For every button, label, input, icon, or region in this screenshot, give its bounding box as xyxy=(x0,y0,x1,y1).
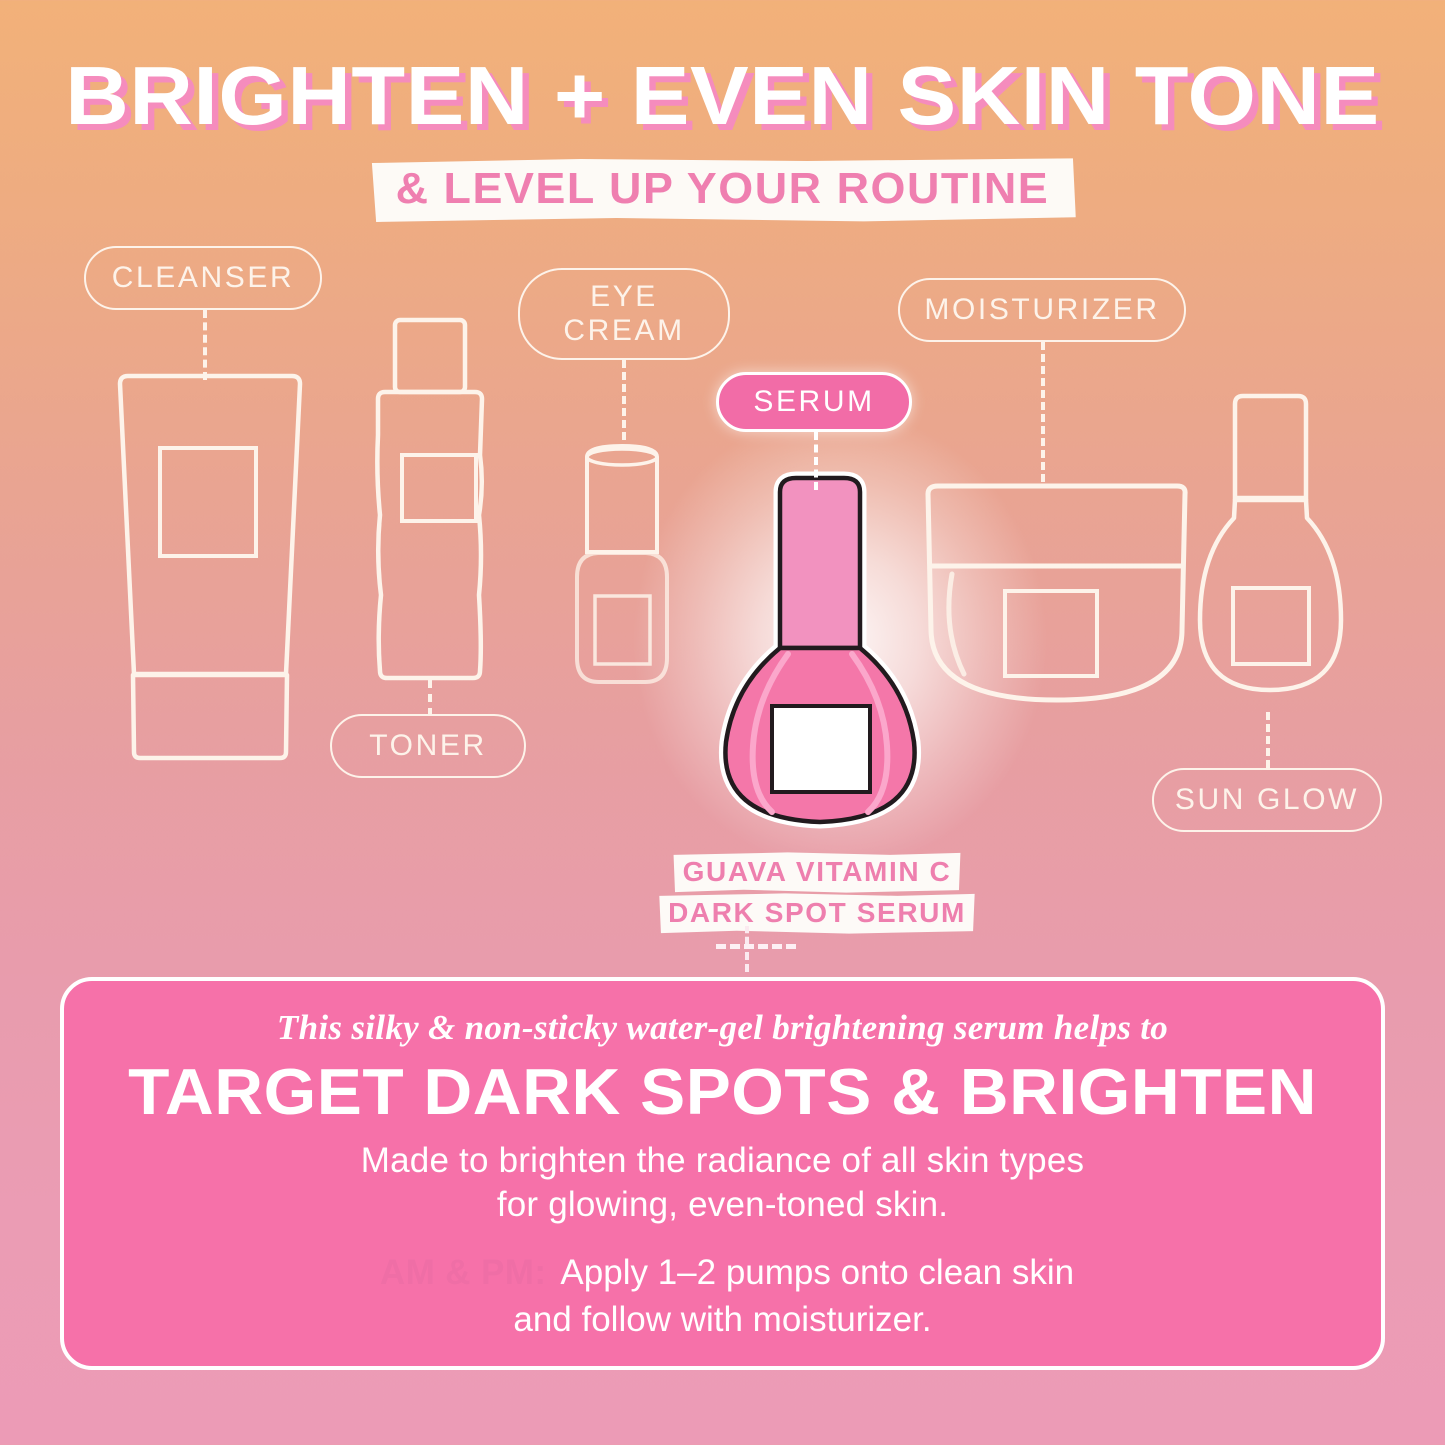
connector-serum xyxy=(814,432,818,490)
label-pill-sun-glow[interactable]: SUN GLOW xyxy=(1152,768,1382,832)
panel-body-line2: for glowing, even-toned skin. xyxy=(497,1185,948,1224)
connector-product-name-bottom xyxy=(745,952,749,972)
label-text-eye-cream-line1: EYE xyxy=(590,280,658,313)
label-pill-cleanser[interactable]: CLEANSER xyxy=(84,246,322,310)
connector-moisturizer xyxy=(1041,342,1045,482)
connector-sun-glow xyxy=(1266,712,1270,768)
usage-badge: AM & PM: xyxy=(371,1249,556,1298)
product-illustration-toner xyxy=(360,315,500,690)
label-text-cleanser: CLEANSER xyxy=(112,261,295,295)
label-text-eye-cream: EYE CREAM xyxy=(563,280,684,347)
label-text-serum: SERUM xyxy=(753,385,874,419)
connector-cleanser xyxy=(203,310,207,380)
page-title: BRIGHTEN + EVEN SKIN TONE xyxy=(0,48,1445,144)
label-pill-toner[interactable]: TONER xyxy=(330,714,526,778)
label-pill-eye-cream[interactable]: EYE CREAM xyxy=(518,268,730,360)
label-text-eye-cream-line2: CREAM xyxy=(563,314,684,347)
label-text-toner: TONER xyxy=(369,729,486,763)
page-subtitle: & LEVEL UP YOUR ROUTINE xyxy=(369,157,1076,224)
usage-line2: and follow with moisturizer. xyxy=(513,1300,931,1339)
product-illustration-serum xyxy=(710,470,930,840)
connector-toner xyxy=(428,680,432,716)
product-illustration-cleanser xyxy=(100,370,320,780)
product-illustration-sun-glow xyxy=(1195,390,1345,710)
usage-line1: Apply 1–2 pumps onto clean skin xyxy=(560,1253,1074,1292)
panel-headline: TARGET DARK SPOTS & BRIGHTEN xyxy=(128,1054,1317,1129)
label-text-moisturizer: MOISTURIZER xyxy=(924,293,1159,327)
label-pill-serum[interactable]: SERUM xyxy=(716,372,912,432)
connector-eye-cream xyxy=(622,360,626,440)
product-name-line1: GUAVA VITAMIN C xyxy=(671,852,964,893)
description-panel: This silky & non-sticky water-gel bright… xyxy=(60,977,1385,1370)
product-illustration-moisturizer xyxy=(920,478,1195,718)
product-name-tag: GUAVA VITAMIN C DARK SPOT SERUM xyxy=(652,852,982,934)
label-text-sun-glow: SUN GLOW xyxy=(1175,783,1359,817)
page-subtitle-wrapper: & LEVEL UP YOUR ROUTINE xyxy=(0,157,1445,224)
panel-tagline: This silky & non-sticky water-gel bright… xyxy=(277,1008,1168,1048)
product-name-line2: DARK SPOT SERUM xyxy=(656,893,978,934)
panel-usage: AM & PM:Apply 1–2 pumps onto clean skin … xyxy=(371,1249,1074,1342)
label-pill-moisturizer[interactable]: MOISTURIZER xyxy=(898,278,1186,342)
panel-body: Made to brighten the radiance of all ski… xyxy=(361,1139,1084,1227)
connector-product-name-middle xyxy=(716,944,796,949)
product-illustration-eye-cream xyxy=(565,440,680,695)
panel-body-line1: Made to brighten the radiance of all ski… xyxy=(361,1141,1084,1180)
